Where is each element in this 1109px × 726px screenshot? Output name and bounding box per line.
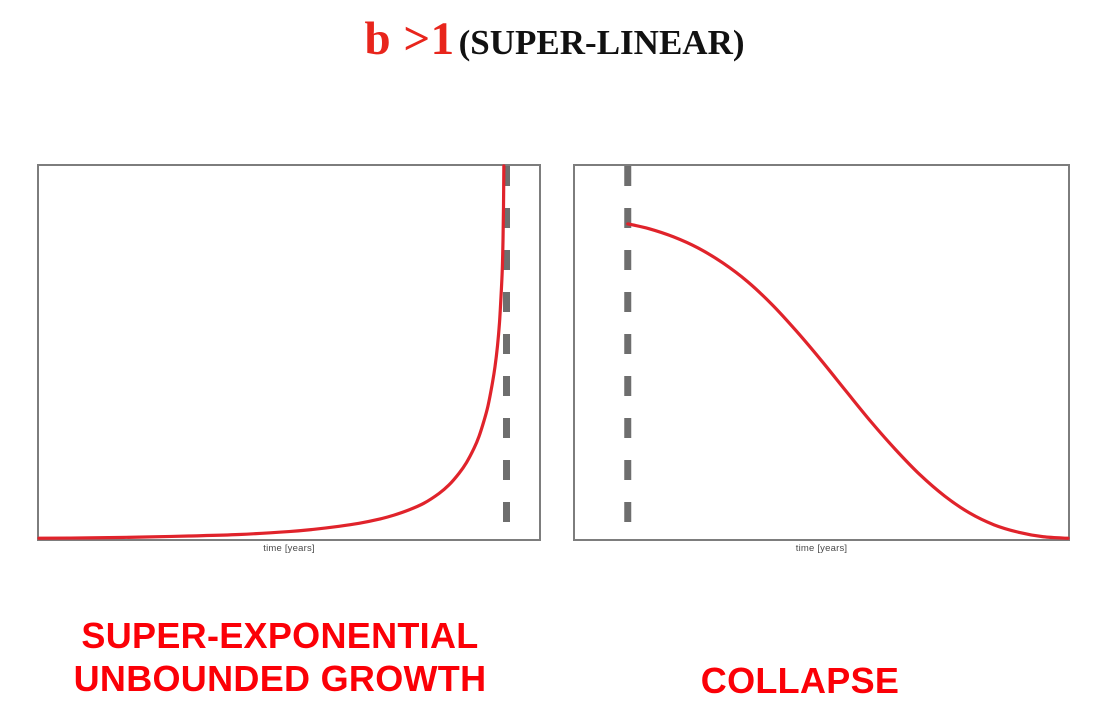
chart-panel-super-exponential [37, 164, 541, 541]
caption-line-1: COLLAPSE [560, 659, 1040, 702]
super-exponential-curve [39, 166, 504, 538]
caption-line-2: UNBOUNDED GROWTH [10, 657, 550, 700]
caption-collapse: COLLAPSE [560, 659, 1040, 702]
chart-panel-collapse [573, 164, 1070, 541]
caption-line-1: SUPER-EXPONENTIAL [10, 614, 550, 657]
title-math-expression: b >1 [364, 13, 454, 65]
page-title: b >1 (SUPER-LINEAR) [0, 16, 1109, 63]
x-axis-label-left: time [years] [37, 543, 541, 554]
collapse-plot [575, 166, 1068, 539]
x-axis-label-right: time [years] [573, 543, 1070, 554]
collapse-curve [628, 224, 1068, 538]
title-qualifier: (SUPER-LINEAR) [459, 23, 745, 62]
caption-super-exponential: SUPER-EXPONENTIAL UNBOUNDED GROWTH [10, 614, 550, 700]
super-exponential-growth-plot [39, 166, 539, 539]
